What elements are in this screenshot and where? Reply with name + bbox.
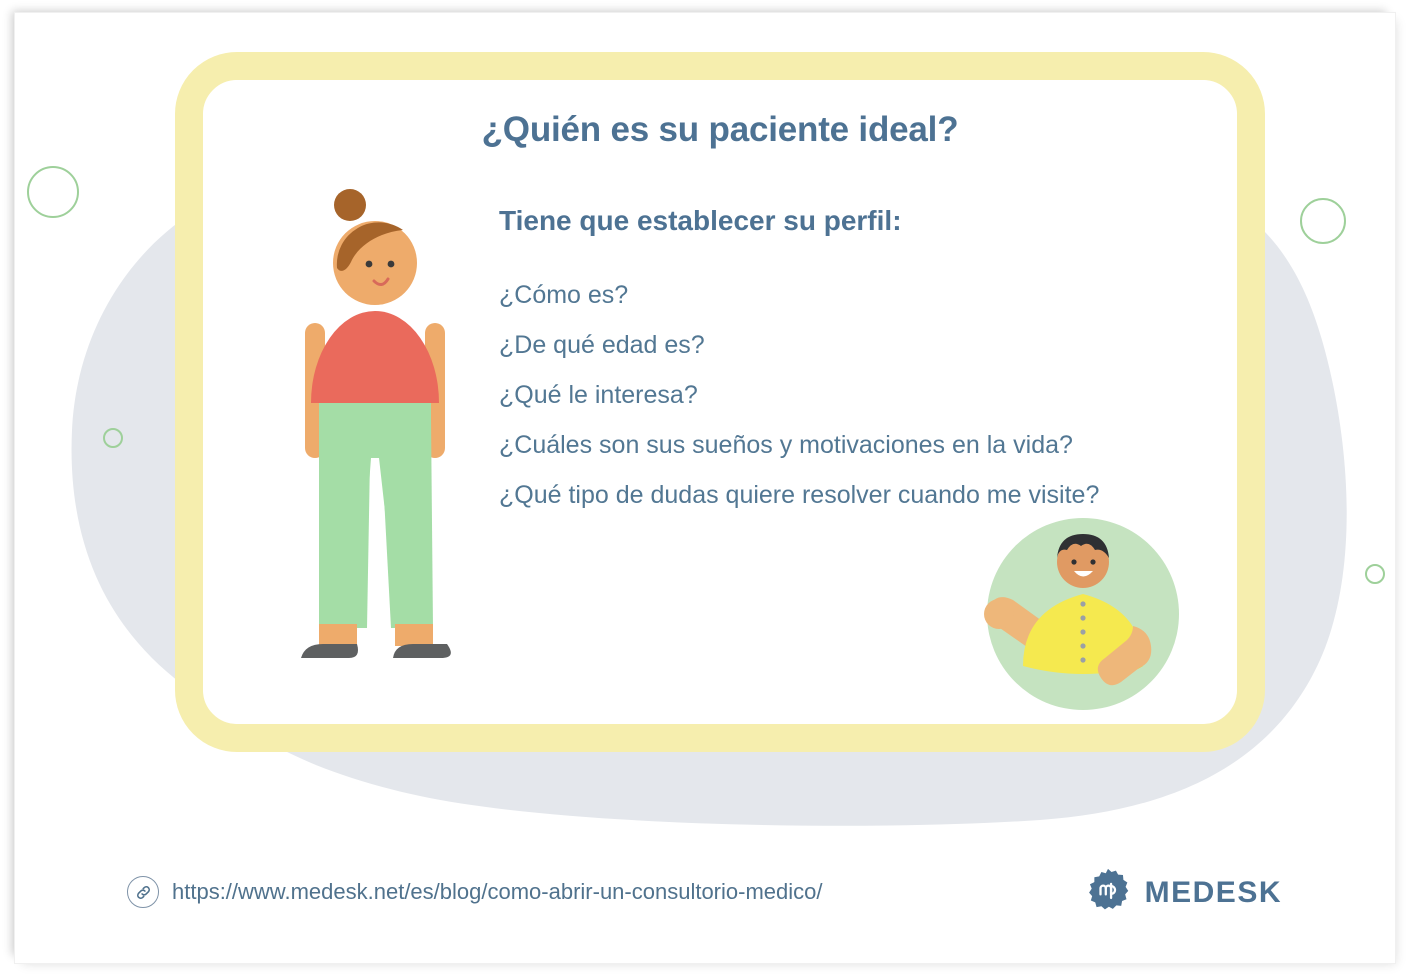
list-item: ¿Qué tipo de dudas quiere resolver cuand… [499,470,1219,520]
decorative-ring-mid-right [1365,564,1385,584]
list-item: ¿De qué edad es? [499,320,1219,370]
footer-source-link[interactable]: https://www.medesk.net/es/blog/como-abri… [127,876,823,908]
footer-url-text: https://www.medesk.net/es/blog/como-abri… [172,879,823,905]
list-item: ¿Qué le interesa? [499,370,1219,420]
subtitle: Tiene que establecer su perfil: [499,205,902,237]
brand-logo: MEDESK [1086,868,1282,917]
slide-canvas: ¿Quién es su paciente ideal? Tiene que e… [0,0,1410,980]
list-item: ¿Cómo es? [499,270,1219,320]
decorative-ring-top-right [1300,198,1346,244]
medesk-badge-icon [1086,868,1130,917]
list-item: ¿Cuáles son sus sueños y motivaciones en… [499,420,1219,470]
page-title: ¿Quién es su paciente ideal? [203,110,1237,150]
seated-person-circle-illustration [983,514,1183,714]
brand-name-text: MEDESK [1145,876,1282,910]
content-card: ¿Quién es su paciente ideal? Tiene que e… [203,80,1237,724]
decorative-ring-top-left [27,166,79,218]
decorative-ring-mid-left [103,428,123,448]
standing-woman-illustration [275,188,475,688]
chain-link-icon [127,876,159,908]
question-list: ¿Cómo es? ¿De qué edad es? ¿Qué le inter… [499,270,1219,520]
